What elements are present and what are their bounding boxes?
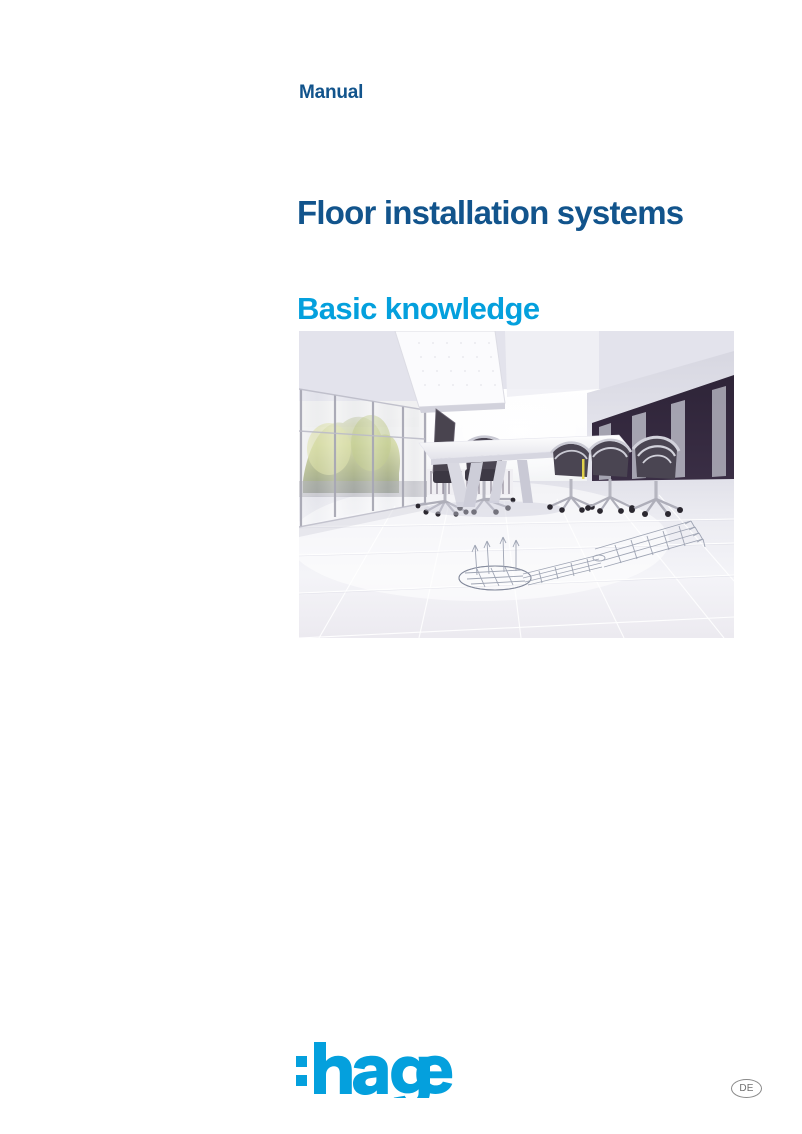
language-badge-label: DE: [739, 1084, 753, 1094]
page-subtitle: Basic knowledge: [297, 292, 540, 326]
hager-logo: [294, 1042, 456, 1098]
document-type-label: Manual: [299, 83, 363, 104]
cover-image: [299, 331, 734, 638]
language-badge: DE: [731, 1079, 762, 1098]
page-title: Floor installation systems: [297, 195, 683, 231]
cover-page: Manual Floor installation systems Basic …: [0, 0, 802, 1134]
